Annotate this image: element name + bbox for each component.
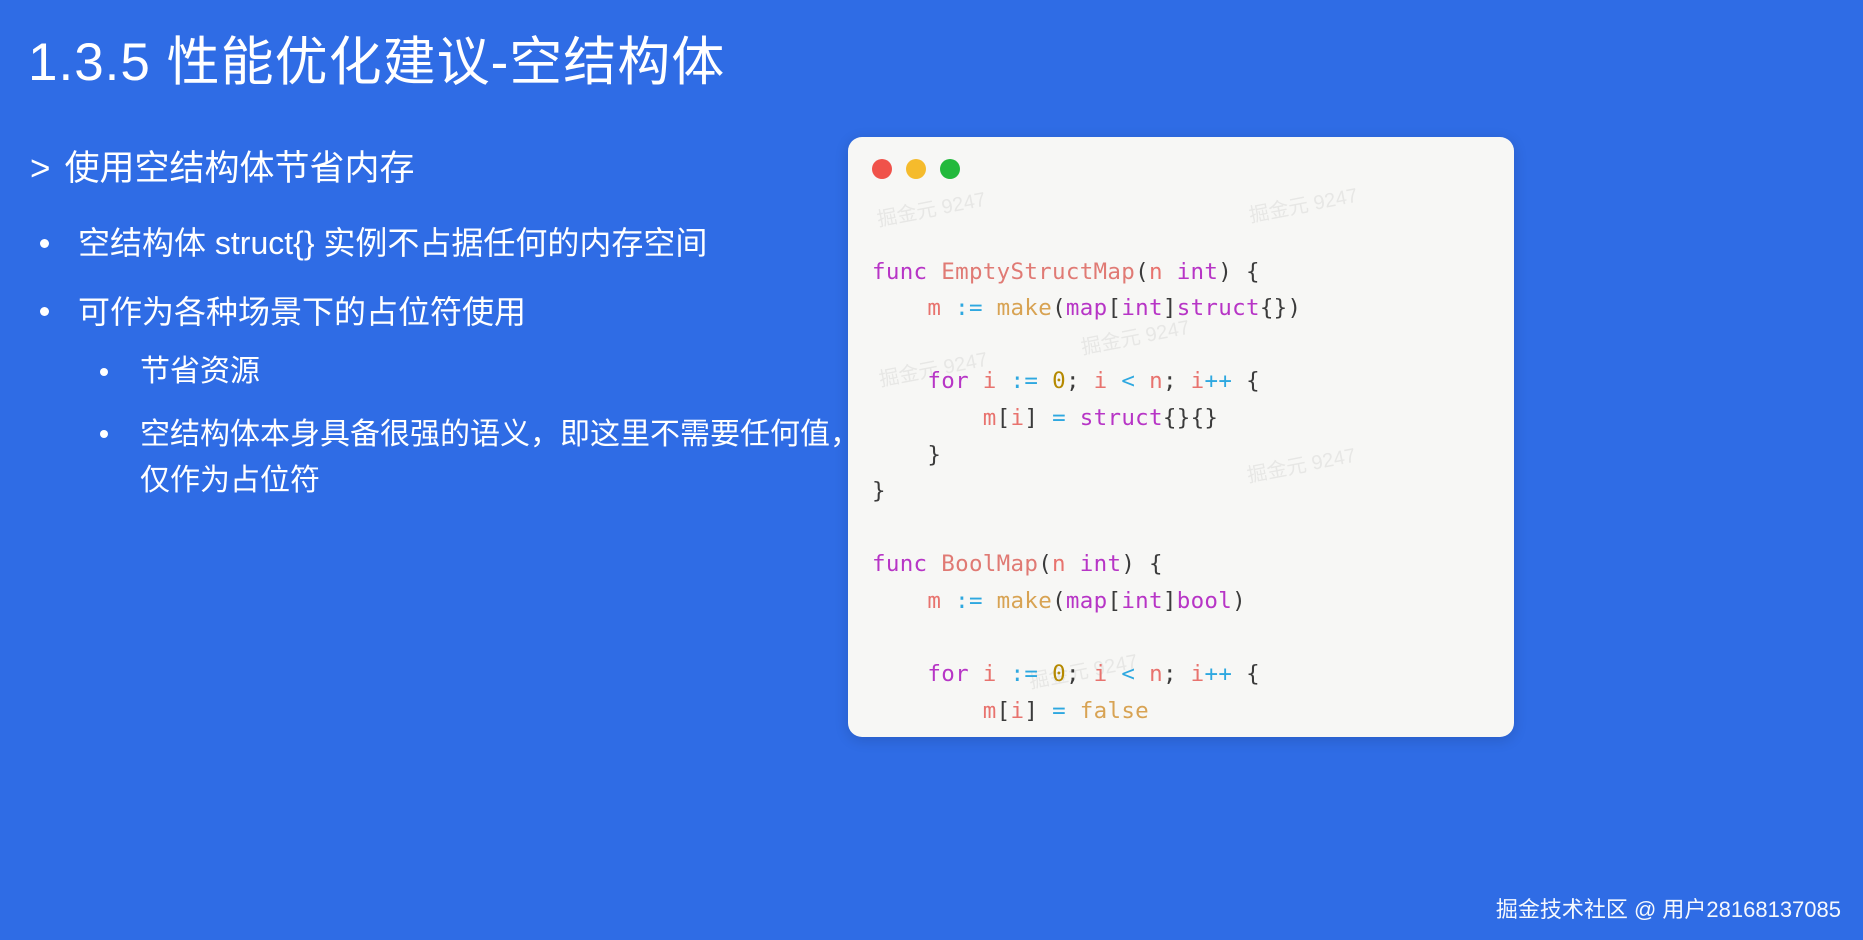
code-line [872,620,1504,657]
bullet-text: 可作为各种场景下的占位符使用 [78,294,526,330]
bullet-dot-icon [40,307,49,316]
footer-credit: 掘金技术社区 @ 用户28168137085 [1496,892,1841,924]
bullet-dot-icon [40,239,49,248]
maximize-dot-icon[interactable] [940,159,960,179]
bullet-text: 空结构体 struct{} 实例不占据任何的内存空间 [78,225,707,261]
code-line: m[i] = struct{}{} [872,400,1504,437]
lead-text: 使用空结构体节省内存 [64,149,414,188]
code-block[interactable]: func EmptyStructMap(n int) { m := make(m… [872,217,1504,737]
slide-root: 1.3.5 性能优化建议-空结构体 >使用空结构体节省内存 空结构体 struc… [0,0,1863,940]
close-dot-icon[interactable] [872,159,892,179]
code-line [872,327,1504,364]
bullet-dot-icon [100,368,108,376]
list-item: 空结构体本身具备很强的语义，即这里不需要任何值，仅作为占位符 [78,412,868,505]
code-line: m[i] = false [872,693,1504,730]
window-controls [872,159,960,179]
code-line [872,510,1504,547]
code-line: for i := 0; i < n; i++ { [872,656,1504,693]
code-line: func EmptyStructMap(n int) { [872,254,1504,291]
minimize-dot-icon[interactable] [906,159,926,179]
code-line: for i := 0; i < n; i++ { [872,363,1504,400]
code-line: m := make(map[int]bool) [872,583,1504,620]
code-line: } [872,437,1504,474]
sub-bullet-text: 节省资源 [140,355,260,388]
list-item: 节省资源 [78,349,868,396]
code-line: } [872,473,1504,510]
code-window: 掘金元 9247 掘金元 9247 掘金元 9247 掘金元 9247 掘金元 … [848,137,1514,737]
code-line: m := make(map[int]struct{}) [872,290,1504,327]
chevron-right-icon: > [30,145,50,192]
code-line: } [872,729,1504,737]
sub-bullet-text: 空结构体本身具备很强的语义，即这里不需要任何值，仅作为占位符 [140,418,860,498]
bullet-dot-icon [100,430,108,438]
page-title: 1.3.5 性能优化建议-空结构体 [28,30,725,96]
code-line: func BoolMap(n int) { [872,546,1504,583]
